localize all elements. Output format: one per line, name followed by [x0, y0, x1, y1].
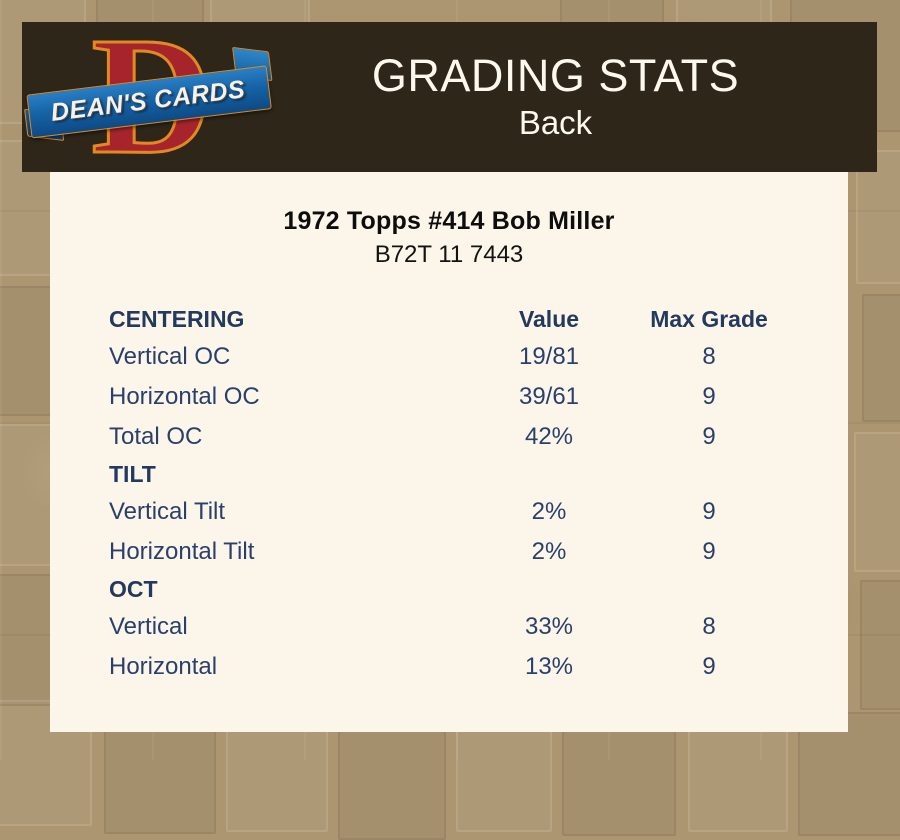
table-section-row: OCT — [109, 572, 789, 607]
header-title-block: GRADING STATS Back — [274, 49, 877, 143]
stat-label: Vertical OC — [109, 337, 469, 377]
stat-max-grade: 8 — [629, 607, 789, 647]
table-row: Vertical OC19/818 — [109, 337, 789, 377]
background-card-ghost — [338, 716, 446, 840]
column-header-value: Value — [469, 301, 629, 337]
page-subtitle: Back — [274, 103, 837, 143]
stat-value: 33% — [469, 607, 629, 647]
grading-stats-table: CENTERINGValueMax GradeVertical OC19/818… — [109, 301, 789, 687]
stat-max-grade: 9 — [629, 417, 789, 457]
table-row: Horizontal13%9 — [109, 647, 789, 687]
table-header-row: CENTERINGValueMax Grade — [109, 301, 789, 337]
column-header-max-grade: Max Grade — [629, 301, 789, 337]
stat-value: 2% — [469, 492, 629, 532]
table-row: Horizontal OC39/619 — [109, 377, 789, 417]
stat-label: Horizontal Tilt — [109, 532, 469, 572]
section-header-centering: CENTERING — [109, 301, 469, 337]
logo-ribbon-text: DEAN'S CARDS — [26, 66, 269, 137]
stat-max-grade: 8 — [629, 337, 789, 377]
deans-cards-logo[interactable]: D DEAN'S CARDS — [22, 22, 274, 172]
card-identifier: B72T 11 7443 — [50, 239, 848, 271]
background-card-ghost — [862, 294, 900, 422]
stat-label: Horizontal — [109, 647, 469, 687]
content-panel: 1972 Topps #414 Bob Miller B72T 11 7443 … — [50, 172, 848, 732]
table-section-row: TILT — [109, 457, 789, 492]
page-title: GRADING STATS — [274, 49, 837, 103]
stat-value: 13% — [469, 647, 629, 687]
stat-label: Vertical Tilt — [109, 492, 469, 532]
stat-max-grade: 9 — [629, 532, 789, 572]
stat-label: Vertical — [109, 607, 469, 647]
background-card-ghost — [854, 432, 900, 572]
card-title: 1972 Topps #414 Bob Miller — [50, 206, 848, 237]
stat-value: 39/61 — [469, 377, 629, 417]
stat-label: Horizontal OC — [109, 377, 469, 417]
section-header-tilt: TILT — [109, 457, 789, 492]
table-row: Vertical33%8 — [109, 607, 789, 647]
stat-max-grade: 9 — [629, 647, 789, 687]
table-row: Total OC42%9 — [109, 417, 789, 457]
stat-value: 19/81 — [469, 337, 629, 377]
header-bar: D DEAN'S CARDS GRADING STATS Back — [22, 22, 877, 172]
stat-max-grade: 9 — [629, 377, 789, 417]
stat-value: 2% — [469, 532, 629, 572]
stat-label: Total OC — [109, 417, 469, 457]
table-row: Horizontal Tilt2%9 — [109, 532, 789, 572]
section-header-oct: OCT — [109, 572, 789, 607]
stat-value: 42% — [469, 417, 629, 457]
background-card-ghost — [860, 580, 900, 710]
stat-max-grade: 9 — [629, 492, 789, 532]
background-card-ghost — [562, 714, 676, 836]
table-row: Vertical Tilt2%9 — [109, 492, 789, 532]
